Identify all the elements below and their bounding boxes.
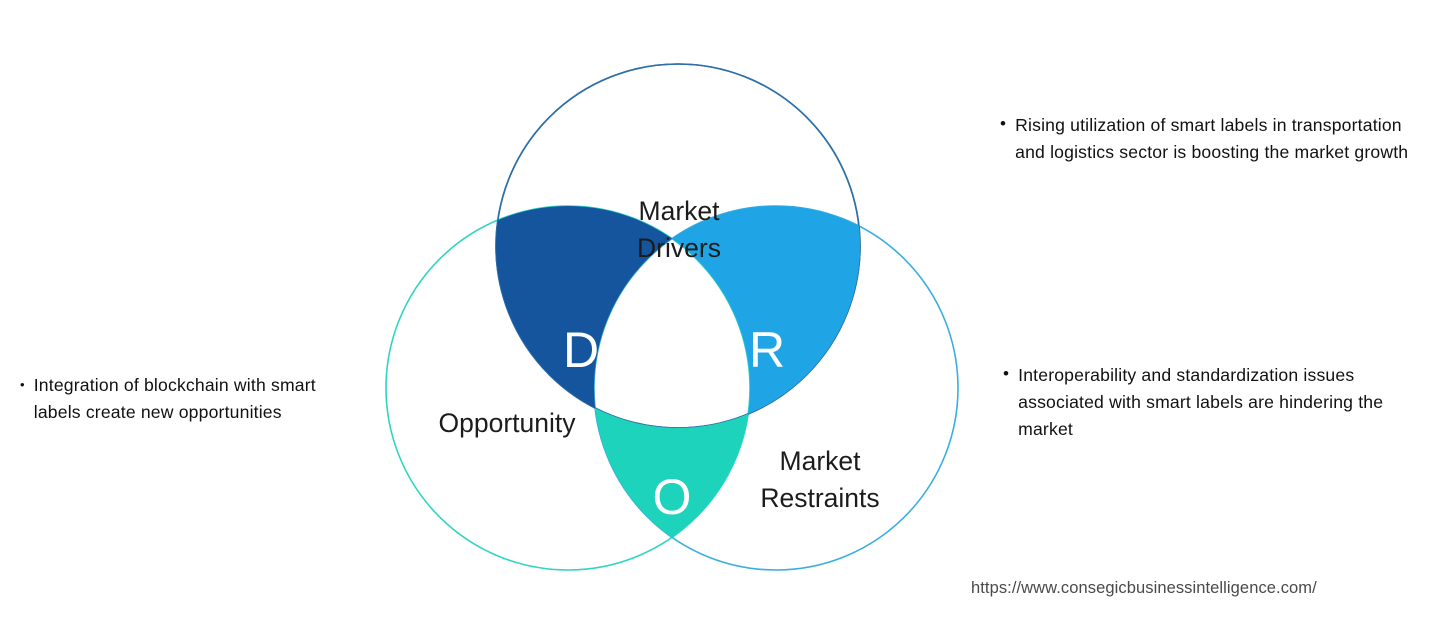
note-drivers: • Rising utilization of smart labels in … [1000,112,1420,166]
circle-label-drivers-line2: Drivers [637,233,721,263]
circle-label-opportunity: Opportunity [439,408,577,438]
bullet-icon: • [20,372,25,397]
circle-label-restraints-line1: Market [780,446,862,476]
bullet-icon: • [1000,112,1006,137]
lens-letter-d: D [563,322,599,378]
circle-label-restraints-line2: Restraints [760,483,879,513]
infographic-canvas: D R O Market Drivers Opportunity Market … [0,0,1453,633]
note-opportunity-text: Integration of blockchain with smart lab… [34,372,360,426]
note-restraints-text: Interoperability and standardization iss… [1018,362,1423,443]
lens-letter-o: O [653,469,692,525]
source-url[interactable]: https://www.consegicbusinessintelligence… [971,579,1317,598]
note-opportunity: • Integration of blockchain with smart l… [20,372,360,426]
venn-diagram: D R O Market Drivers Opportunity Market … [380,55,980,585]
note-restraints: • Interoperability and standardization i… [1003,362,1423,443]
bullet-icon: • [1003,362,1009,387]
note-drivers-text: Rising utilization of smart labels in tr… [1015,112,1420,166]
lens-letter-r: R [749,322,785,378]
circle-label-drivers-line1: Market [639,196,721,226]
